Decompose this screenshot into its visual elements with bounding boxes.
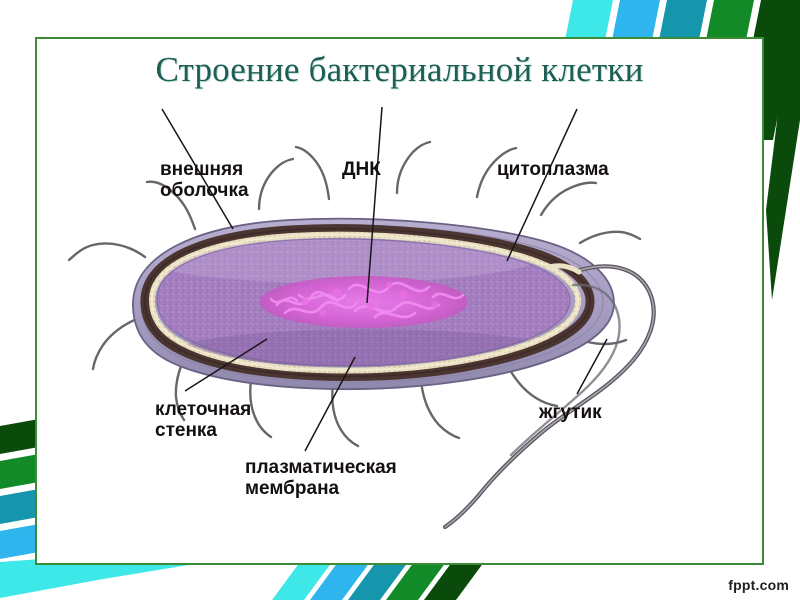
- label-plasma-membrane: плазматическая мембрана: [245, 457, 397, 500]
- decorative-stripes-right-edge: [766, 0, 800, 600]
- content-frame: Строение бактериальной клетки: [35, 37, 764, 565]
- watermark: fppt.com: [728, 577, 789, 593]
- bacterial-cell-diagram: внешняя оболочка ДНК цитоплазма клеточна…: [37, 39, 766, 567]
- label-cytoplasm: цитоплазма: [497, 159, 609, 180]
- label-flagellum: жгутик: [539, 402, 602, 423]
- slide: Строение бактериальной клетки: [0, 0, 800, 600]
- decorative-stripes-bottom-center: [60, 562, 540, 600]
- label-outer-envelope: внешняя оболочка: [160, 159, 249, 202]
- label-cell-wall: клеточная стенка: [155, 399, 251, 442]
- dna-nucleoid: [260, 276, 468, 328]
- leader-cytoplasm: [507, 109, 577, 261]
- label-dna: ДНК: [342, 159, 381, 180]
